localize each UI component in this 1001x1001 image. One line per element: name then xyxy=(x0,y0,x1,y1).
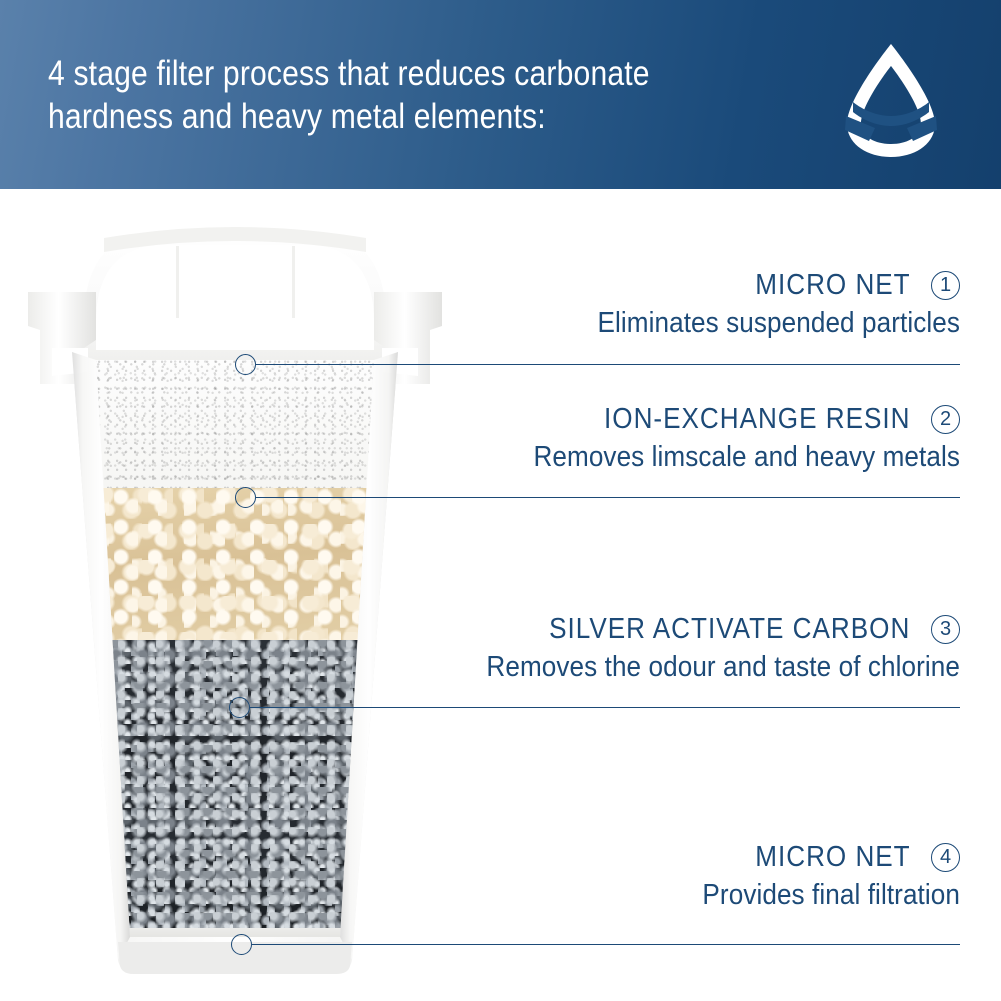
stage-3-rule xyxy=(420,707,960,708)
cap-rib xyxy=(292,246,295,318)
stage-1[interactable]: MICRO NET 1 Eliminates suspended particl… xyxy=(320,268,960,341)
stage-3[interactable]: SILVER ACTIVATE CARBON 3 Removes the odo… xyxy=(320,612,960,685)
stage-3-badge: 3 xyxy=(931,615,960,644)
marker-stage-4 xyxy=(231,934,252,955)
stage-4[interactable]: MICRO NET 4 Provides final filtration xyxy=(320,840,960,913)
stage-1-rule xyxy=(440,364,960,365)
infographic-page: 4 stage filter process that reduces carb… xyxy=(0,0,1001,1001)
stage-2-description: Removes limscale and heavy metals xyxy=(384,439,960,475)
stage-2-badge: 2 xyxy=(931,405,960,434)
marker-stage-1 xyxy=(235,354,256,375)
right-clip-tab xyxy=(382,348,418,376)
stage-2[interactable]: ION-EXCHANGE RESIN 2 Removes limscale an… xyxy=(320,402,960,475)
left-clip-tab xyxy=(52,348,88,376)
stage-4-title: MICRO NET xyxy=(755,840,910,874)
water-droplet-icon xyxy=(843,40,939,160)
page-title: 4 stage filter process that reduces carb… xyxy=(48,52,667,138)
stage-1-heading-row: MICRO NET 1 xyxy=(320,268,960,302)
header-band: 4 stage filter process that reduces carb… xyxy=(0,0,1001,189)
marker-stage-2 xyxy=(235,487,256,508)
stage-3-title: SILVER ACTIVATE CARBON xyxy=(549,612,910,646)
stage-2-heading-row: ION-EXCHANGE RESIN 2 xyxy=(320,402,960,436)
stage-1-description: Eliminates suspended particles xyxy=(384,305,960,341)
stage-2-rule xyxy=(440,497,960,498)
marker-stage-3 xyxy=(229,697,250,718)
stage-1-title: MICRO NET xyxy=(755,268,910,302)
stage-2-title: ION-EXCHANGE RESIN xyxy=(604,402,910,436)
stage-3-heading-row: SILVER ACTIVATE CARBON 3 xyxy=(320,612,960,646)
stage-4-heading-row: MICRO NET 4 xyxy=(320,840,960,874)
stage-4-badge: 4 xyxy=(931,843,960,872)
stage-3-description: Removes the odour and taste of chlorine xyxy=(384,649,960,685)
cap-rib xyxy=(176,246,179,318)
stage-4-description: Provides final filtration xyxy=(384,877,960,913)
stage-1-badge: 1 xyxy=(931,271,960,300)
stage-4-rule xyxy=(440,944,960,945)
